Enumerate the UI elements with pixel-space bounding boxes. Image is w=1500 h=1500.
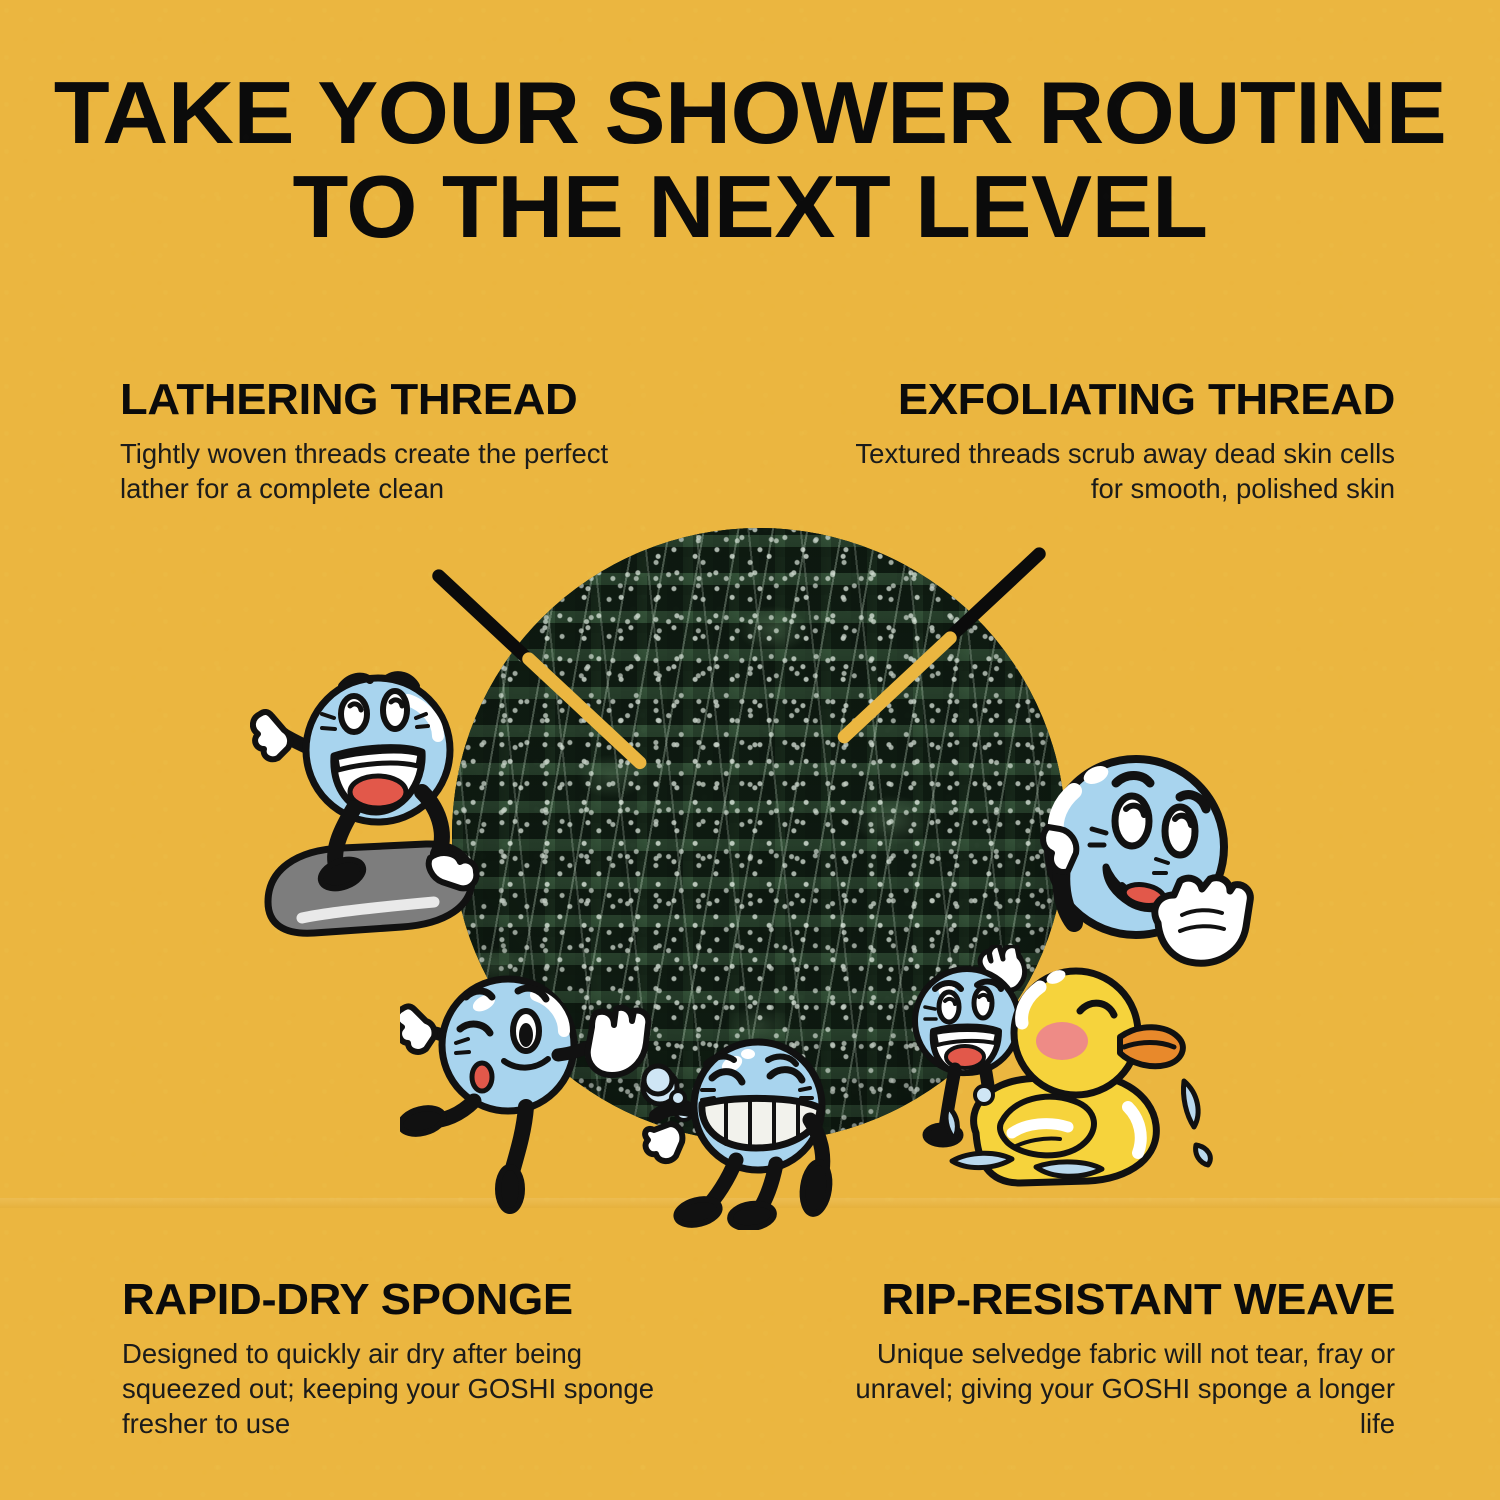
feature-lathering-thread: LATHERING THREAD Tightly woven threads c…	[120, 378, 680, 506]
bubble-character-waving	[250, 652, 525, 952]
feature-body-rapid-dry: Designed to quickly air dry after being …	[122, 1336, 682, 1442]
feature-exfoliating-thread: EXFOLIATING THREAD Textured threads scru…	[835, 378, 1395, 506]
feature-title-rip-resistant: RIP-RESISTANT WEAVE	[818, 1278, 1395, 1322]
feature-body-lathering: Tightly woven threads create the perfect…	[120, 436, 680, 506]
bubble-character-grinning	[640, 1020, 900, 1230]
page-title: TAKE YOUR SHOWER ROUTINE TO THE NEXT LEV…	[0, 70, 1500, 250]
headline-line-1: TAKE YOUR SHOWER ROUTINE	[0, 70, 1500, 156]
feature-rapid-dry-sponge: RAPID-DRY SPONGE Designed to quickly air…	[122, 1278, 682, 1442]
feature-body-rip-resistant: Unique selvedge fabric will not tear, fr…	[835, 1336, 1395, 1442]
infographic-poster: TAKE YOUR SHOWER ROUTINE TO THE NEXT LEV…	[0, 0, 1500, 1500]
headline-line-2: TO THE NEXT LEVEL	[0, 164, 1500, 250]
rubber-duck	[940, 965, 1240, 1200]
feature-body-exfoliating: Textured threads scrub away dead skin ce…	[835, 436, 1395, 506]
feature-rip-resistant-weave: RIP-RESISTANT WEAVE Unique selvedge fabr…	[835, 1278, 1395, 1442]
feature-title-exfoliating: EXFOLIATING THREAD	[818, 378, 1395, 422]
bubble-character-resting	[1030, 755, 1280, 985]
feature-title-lathering: LATHERING THREAD	[120, 378, 697, 422]
feature-title-rapid-dry: RAPID-DRY SPONGE	[122, 1278, 699, 1322]
